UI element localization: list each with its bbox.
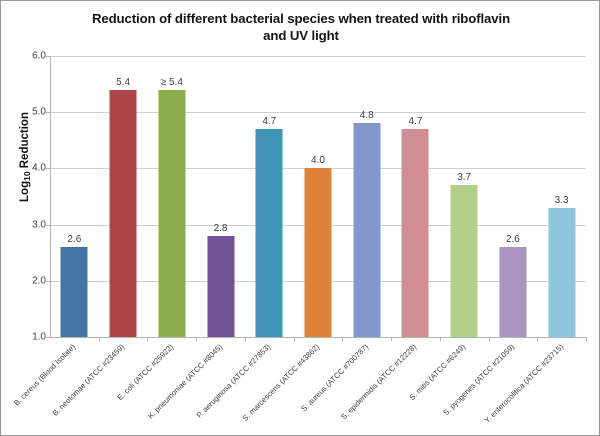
bar[interactable]: [353, 123, 380, 337]
bar-slot: 2.6: [50, 56, 99, 337]
bar-slot: 5.4: [99, 56, 148, 337]
y-axis-ticks: 1.02.03.04.05.06.0: [1, 56, 46, 337]
bar-slot: 4.8: [342, 56, 391, 337]
bar[interactable]: [304, 168, 331, 337]
chart-title: Reduction of different bacterial species…: [41, 10, 561, 44]
x-axis-tick-mark: [391, 337, 392, 341]
y-axis-tick-label: 6.0: [6, 51, 46, 62]
y-axis-tick-label: 4.0: [6, 163, 46, 174]
bar-slot: ≥ 5.4: [147, 56, 196, 337]
bar-value-label: ≥ 5.4: [161, 77, 183, 88]
bar[interactable]: [499, 247, 526, 337]
bar[interactable]: [402, 129, 429, 337]
y-axis-tick-label: 1.0: [6, 332, 46, 343]
bar[interactable]: [256, 129, 283, 337]
y-axis-tick-label: 2.0: [6, 275, 46, 286]
bar-slot: 2.6: [489, 56, 538, 337]
bar-slot: 4.0: [294, 56, 343, 337]
x-axis-tick-mark: [586, 337, 587, 341]
y-axis-tick-label: 3.0: [6, 219, 46, 230]
x-axis-tick-mark: [489, 337, 490, 341]
bar-value-label: 3.3: [555, 195, 569, 206]
bar[interactable]: [61, 247, 88, 337]
bar-value-label: 3.7: [457, 172, 471, 183]
y-axis-tick-mark: [46, 337, 50, 338]
bar-slot: 4.7: [245, 56, 294, 337]
x-axis-tick-mark: [342, 337, 343, 341]
bar-value-label: 2.8: [214, 223, 228, 234]
bar-value-label: 5.4: [116, 77, 130, 88]
bar[interactable]: [110, 90, 137, 337]
bar-value-label: 4.7: [408, 116, 422, 127]
bar[interactable]: [158, 90, 185, 337]
chart-title-line-2: and UV light: [263, 28, 339, 43]
bars-layer: 2.65.4≥ 5.42.84.74.04.84.73.72.63.3: [50, 56, 587, 337]
bar-slot: 2.8: [196, 56, 245, 337]
x-axis-tick-mark: [440, 337, 441, 341]
bar[interactable]: [548, 208, 575, 337]
bar-value-label: 4.8: [360, 110, 374, 121]
y-axis-tick-label: 5.0: [6, 107, 46, 118]
bar[interactable]: [451, 185, 478, 337]
x-axis-line: [50, 337, 587, 338]
x-axis-tick-mark: [245, 337, 246, 341]
bar-value-label: 2.6: [506, 234, 520, 245]
chart-title-line-1: Reduction of different bacterial species…: [92, 11, 510, 26]
bar[interactable]: [207, 236, 234, 337]
bar-value-label: 2.6: [67, 234, 81, 245]
bar-value-label: 4.7: [262, 116, 276, 127]
x-axis-tick-mark: [196, 337, 197, 341]
x-axis-tick-mark: [537, 337, 538, 341]
x-axis-tick-mark: [294, 337, 295, 341]
bar-value-label: 4.0: [311, 155, 325, 166]
bar-slot: 3.3: [537, 56, 586, 337]
x-axis-tick-mark: [99, 337, 100, 341]
bar-slot: 4.7: [391, 56, 440, 337]
bar-chart: Reduction of different bacterial species…: [0, 0, 600, 436]
x-axis-tick-mark: [147, 337, 148, 341]
bar-slot: 3.7: [440, 56, 489, 337]
